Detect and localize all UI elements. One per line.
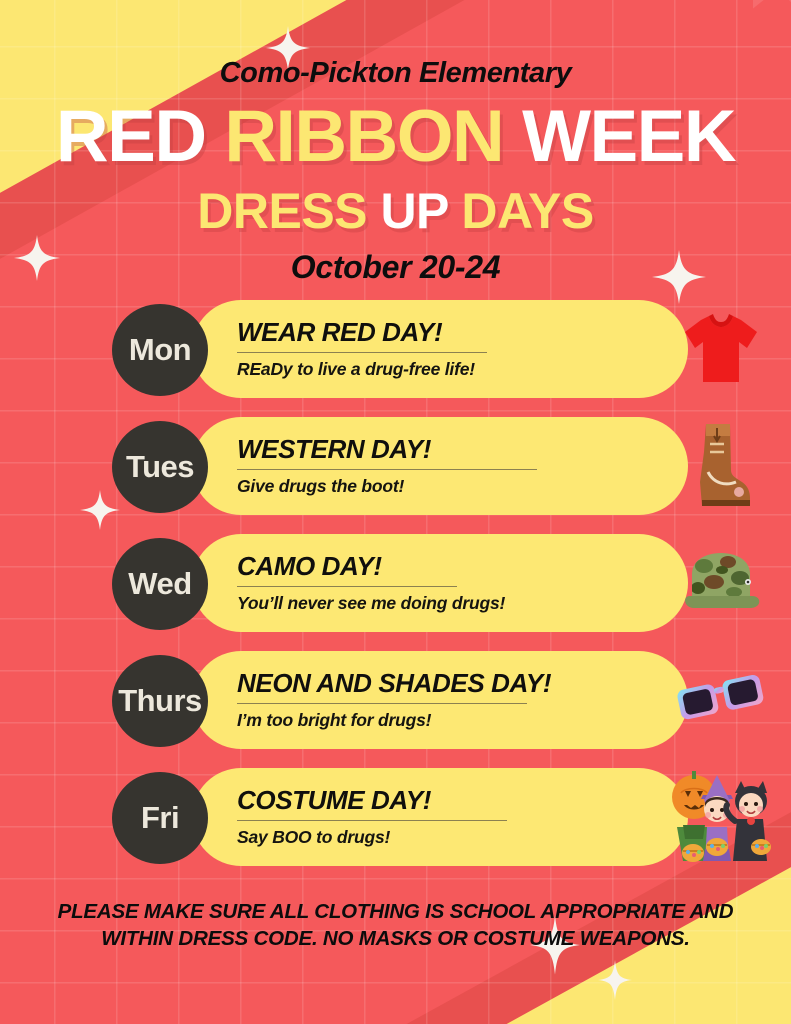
day-card-wed: CAMO DAY! You’ll never see me doing drug… [192,534,688,632]
sunglasses-icon [675,654,767,746]
day-slogan: Give drugs the boot! [237,476,568,497]
day-title: WESTERN DAY! [237,435,568,464]
day-badge-tues: Tues [112,421,208,513]
poster-canvas: RED RIBBON WEEK RED RIBBON WEEK Como-Pic… [0,0,791,1024]
list-item: Fri COSTUME DAY! Say BOO to drugs! [0,768,791,866]
school-name: Como-Pickton Elementary [0,0,791,90]
page-subtitle: DRESS UP DAYS [0,174,791,240]
day-title: COSTUME DAY! [237,786,568,815]
divider [237,820,507,822]
day-badge-fri: Fri [112,772,208,864]
day-card-tues: WESTERN DAY! Give drugs the boot! [192,417,688,515]
title-word-red: RED [56,96,206,177]
day-badge-mon: Mon [112,304,208,396]
title-word-week: WEEK [522,96,735,177]
dress-up-days-list: Mon WEAR RED DAY! REaDy to live a drug-f… [0,300,791,885]
footer-line-2: WITHIN DRESS CODE. NO MASKS OR COSTUME W… [48,925,743,952]
subtitle-word-dress: DRESS [197,183,367,239]
day-card-mon: WEAR RED DAY! REaDy to live a drug-free … [192,300,688,398]
day-card-thurs: NEON AND SHADES DAY! I’m too bright for … [192,651,688,749]
subtitle-word-days: DAYS [461,183,593,239]
cowboy-boot-icon [675,420,767,512]
camo-hat-icon [675,537,767,629]
day-badge-thurs: Thurs [112,655,208,747]
title-word-ribbon: RIBBON [224,96,503,177]
list-item: Thurs NEON AND SHADES DAY! I’m too brigh… [0,651,791,749]
red-tshirt-icon [675,303,767,395]
poster-header: Como-Pickton Elementary RED RIBBON WEEK … [0,0,791,286]
day-title: CAMO DAY! [237,552,568,581]
list-item: Mon WEAR RED DAY! REaDy to live a drug-f… [0,300,791,398]
day-card-fri: COSTUME DAY! Say BOO to drugs! [192,768,688,866]
divider [237,586,457,588]
day-badge-wed: Wed [112,538,208,630]
event-dates: October 20-24 [0,240,791,286]
list-item: Wed CAMO DAY! You’ll never see me doing … [0,534,791,632]
day-slogan: I’m too bright for drugs! [237,710,568,731]
day-slogan: Say BOO to drugs! [237,827,568,848]
footer-note: PLEASE MAKE SURE ALL CLOTHING IS SCHOOL … [48,898,743,952]
list-item: Tues WESTERN DAY! Give drugs the boot! [0,417,791,515]
page-title: RED RIBBON WEEK [0,90,791,174]
divider [237,352,487,354]
subtitle-word-up: UP [380,183,448,239]
trick-or-treaters-icon [669,765,777,869]
day-title: NEON AND SHADES DAY! [237,669,568,698]
day-slogan: You’ll never see me doing drugs! [237,593,568,614]
footer-line-1: PLEASE MAKE SURE ALL CLOTHING IS SCHOOL … [48,898,743,925]
day-slogan: REaDy to live a drug-free life! [237,359,568,380]
divider [237,469,537,471]
day-title: WEAR RED DAY! [237,318,568,347]
divider [237,703,527,705]
